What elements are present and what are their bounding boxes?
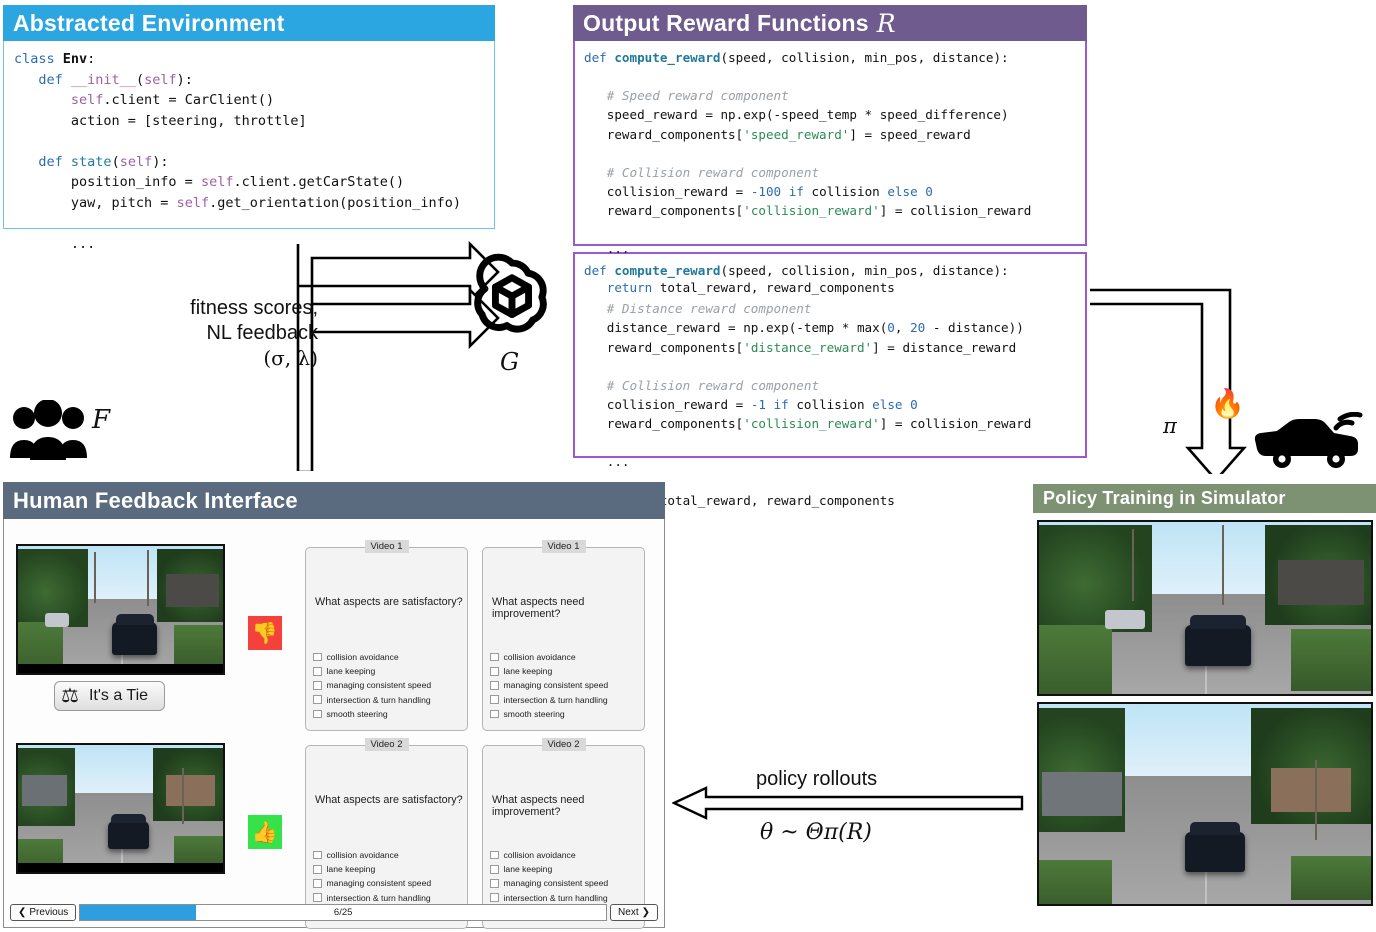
scales-icon: ⚖ (59, 686, 81, 706)
checkbox[interactable] (313, 865, 322, 874)
feedback-navigation-bar: ❮ Previous 6/25 Next ❯ (10, 903, 658, 922)
option-label: intersection & turn handling (504, 893, 608, 903)
symbol-F: F (92, 405, 110, 435)
checkbox[interactable] (313, 879, 322, 888)
option-managing-consistent-speed[interactable]: managing consistent speed (313, 878, 461, 888)
option-smooth-steering[interactable]: smooth steering (490, 709, 638, 719)
card-question: What aspects are satisfactory? (315, 794, 463, 806)
thumbs-up-icon[interactable]: 👍 (248, 815, 282, 849)
option-intersection-turn-handling[interactable]: intersection & turn handling (313, 695, 461, 705)
feedback-panel-body: ⚖ It's a Tie 👎 👍 Video 1 What aspects ar… (3, 519, 665, 928)
option-label: managing consistent speed (327, 680, 432, 690)
card-options: collision avoidance lane keeping managin… (490, 652, 638, 723)
feedback-card-video2-improvement: Video 2 What aspects need improvement? c… (482, 745, 645, 929)
its-a-tie-label: It's a Tie (89, 687, 148, 705)
simulator-panel-title: Policy Training in Simulator (1033, 484, 1376, 513)
option-intersection-turn-handling[interactable]: intersection & turn handling (313, 893, 461, 903)
option-lane-keeping[interactable]: lane keeping (490, 864, 638, 874)
option-label: lane keeping (327, 864, 376, 874)
feedback-card-video2-satisfactory: Video 2 What aspects are satisfactory? c… (305, 745, 468, 929)
option-label: intersection & turn handling (327, 695, 431, 705)
checkbox[interactable] (313, 667, 322, 676)
option-label: lane keeping (504, 666, 553, 676)
policy-training-simulator-panel: Policy Training in Simulator (1033, 484, 1376, 924)
reward-symbol-R: R (877, 9, 896, 38)
feedback-panel-title: Human Feedback Interface (3, 482, 665, 519)
next-button[interactable]: Next ❯ (610, 904, 658, 921)
option-label: lane keeping (504, 864, 553, 874)
option-label: collision avoidance (504, 652, 576, 662)
checkbox[interactable] (490, 865, 499, 874)
option-label: smooth steering (504, 709, 565, 719)
fitness-feedback-label: fitness scores, NL feedback (σ, λ) (118, 296, 318, 371)
abstracted-environment-panel: Abstracted Environment class Env: def __… (3, 5, 495, 229)
checkbox[interactable] (490, 695, 499, 704)
its-a-tie-button[interactable]: ⚖ It's a Tie (54, 681, 165, 711)
checkbox[interactable] (313, 710, 322, 719)
checkbox[interactable] (490, 653, 499, 662)
option-label: intersection & turn handling (504, 695, 608, 705)
env-code-block: class Env: def __init__(self): self.clie… (3, 41, 495, 229)
thumbs-down-icon[interactable]: 👎 (248, 616, 282, 650)
checkbox[interactable] (490, 851, 499, 860)
checkbox[interactable] (490, 667, 499, 676)
option-lane-keeping[interactable]: lane keeping (313, 864, 461, 874)
feedback-card-video1-improvement: Video 1 What aspects need improvement? c… (482, 547, 645, 731)
chevron-left-icon: ❮ (18, 907, 26, 918)
card-legend: Video 2 (364, 738, 408, 751)
card-question: What aspects need improvement? (492, 794, 644, 818)
checkbox[interactable] (490, 879, 499, 888)
previous-label: Previous (29, 907, 68, 918)
fire-icon: 🔥 (1210, 390, 1245, 418)
checkbox[interactable] (313, 681, 322, 690)
reward-to-policy-arrow (1090, 284, 1250, 474)
card-question: What aspects are satisfactory? (315, 596, 463, 608)
option-label: smooth steering (327, 709, 388, 719)
video-thumbnail-2[interactable] (16, 743, 225, 874)
people-icon (8, 400, 90, 462)
checkbox[interactable] (313, 695, 322, 704)
reward-function-1-code: def compute_reward(speed, collision, min… (573, 41, 1087, 246)
progress-bar[interactable]: 6/25 (79, 904, 607, 921)
card-legend: Video 1 (541, 540, 585, 553)
policy-rollouts-math: θ ~ Θπ(R) (760, 820, 872, 845)
fitness-line-1: fitness scores, (118, 296, 318, 321)
card-options: collision avoidance lane keeping managin… (313, 652, 461, 723)
checkbox[interactable] (313, 653, 322, 662)
option-label: collision avoidance (327, 850, 399, 860)
option-managing-consistent-speed[interactable]: managing consistent speed (490, 878, 638, 888)
option-label: lane keeping (327, 666, 376, 676)
option-lane-keeping[interactable]: lane keeping (490, 666, 638, 676)
option-label: collision avoidance (504, 850, 576, 860)
option-collision-avoidance[interactable]: collision avoidance (313, 850, 461, 860)
previous-button[interactable]: ❮ Previous (10, 904, 76, 921)
card-legend: Video 1 (364, 540, 408, 553)
next-label: Next (618, 907, 639, 918)
option-smooth-steering[interactable]: smooth steering (313, 709, 461, 719)
video-thumbnail-1[interactable] (16, 544, 225, 675)
output-reward-functions-panel: Output Reward Functions R def compute_re… (573, 5, 1087, 466)
human-feedback-interface-panel: Human Feedback Interface ⚖ It's a Tie (3, 482, 665, 928)
option-label: collision avoidance (327, 652, 399, 662)
checkbox[interactable] (490, 681, 499, 690)
symbol-G: G (500, 348, 519, 376)
card-legend: Video 2 (541, 738, 585, 751)
card-question: What aspects need improvement? (492, 596, 644, 620)
option-label: managing consistent speed (327, 878, 432, 888)
option-intersection-turn-handling[interactable]: intersection & turn handling (490, 695, 638, 705)
option-collision-avoidance[interactable]: collision avoidance (490, 850, 638, 860)
option-label: managing consistent speed (504, 680, 609, 690)
policy-rollouts-label: policy rollouts (756, 768, 877, 791)
checkbox[interactable] (490, 710, 499, 719)
option-label: managing consistent speed (504, 878, 609, 888)
option-managing-consistent-speed[interactable]: managing consistent speed (313, 680, 461, 690)
simulator-image-2 (1037, 702, 1373, 906)
option-collision-avoidance[interactable]: collision avoidance (490, 652, 638, 662)
policy-rollouts-arrow (672, 786, 1024, 820)
reward-panel-title: Output Reward Functions R (573, 5, 1087, 41)
symbol-pi: π (1163, 414, 1177, 438)
option-managing-consistent-speed[interactable]: managing consistent speed (490, 680, 638, 690)
option-lane-keeping[interactable]: lane keeping (313, 666, 461, 676)
progress-label: 6/25 (80, 905, 606, 920)
reward-panel-title-text: Output Reward Functions (583, 10, 869, 37)
checkbox[interactable] (313, 893, 322, 902)
fitness-line-2: NL feedback (118, 321, 318, 346)
openai-logo-icon (466, 252, 558, 344)
option-intersection-turn-handling[interactable]: intersection & turn handling (490, 893, 638, 903)
checkbox[interactable] (313, 851, 322, 860)
option-label: intersection & turn handling (327, 893, 431, 903)
checkbox[interactable] (490, 893, 499, 902)
feedback-card-video1-satisfactory: Video 1 What aspects are satisfactory? c… (305, 547, 468, 731)
env-panel-title: Abstracted Environment (3, 5, 495, 41)
chevron-right-icon: ❯ (642, 907, 650, 918)
simulator-image-1 (1037, 520, 1373, 696)
car-wifi-icon (1252, 412, 1364, 470)
fitness-line-3: (σ, λ) (118, 346, 318, 371)
option-collision-avoidance[interactable]: collision avoidance (313, 652, 461, 662)
